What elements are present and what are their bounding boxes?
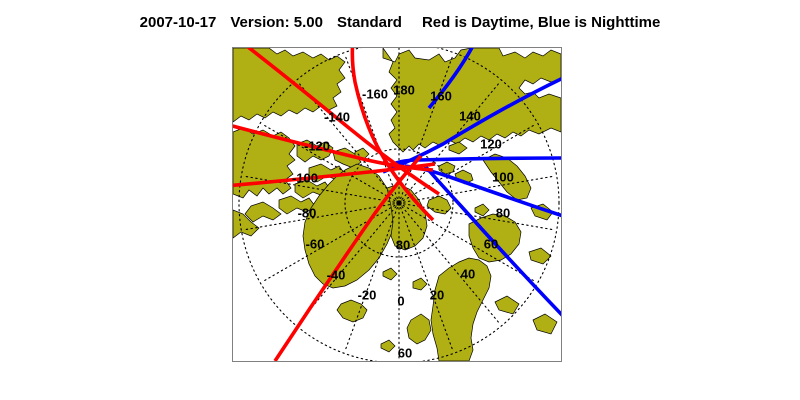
polar-map[interactable]: -160 180 160 -140 140 -120 120 -100 100 … xyxy=(232,47,562,362)
page-title: 2007-10-17Version: 5.00StandardRed is Da… xyxy=(0,14,800,32)
map-canvas xyxy=(233,48,561,361)
pole-marker xyxy=(396,200,402,206)
title-version: Version: 5.00 xyxy=(230,14,323,31)
title-date: 2007-10-17 xyxy=(140,14,217,31)
title-legend: Red is Daytime, Blue is Nighttime xyxy=(422,14,660,31)
title-standard: Standard xyxy=(337,14,402,31)
